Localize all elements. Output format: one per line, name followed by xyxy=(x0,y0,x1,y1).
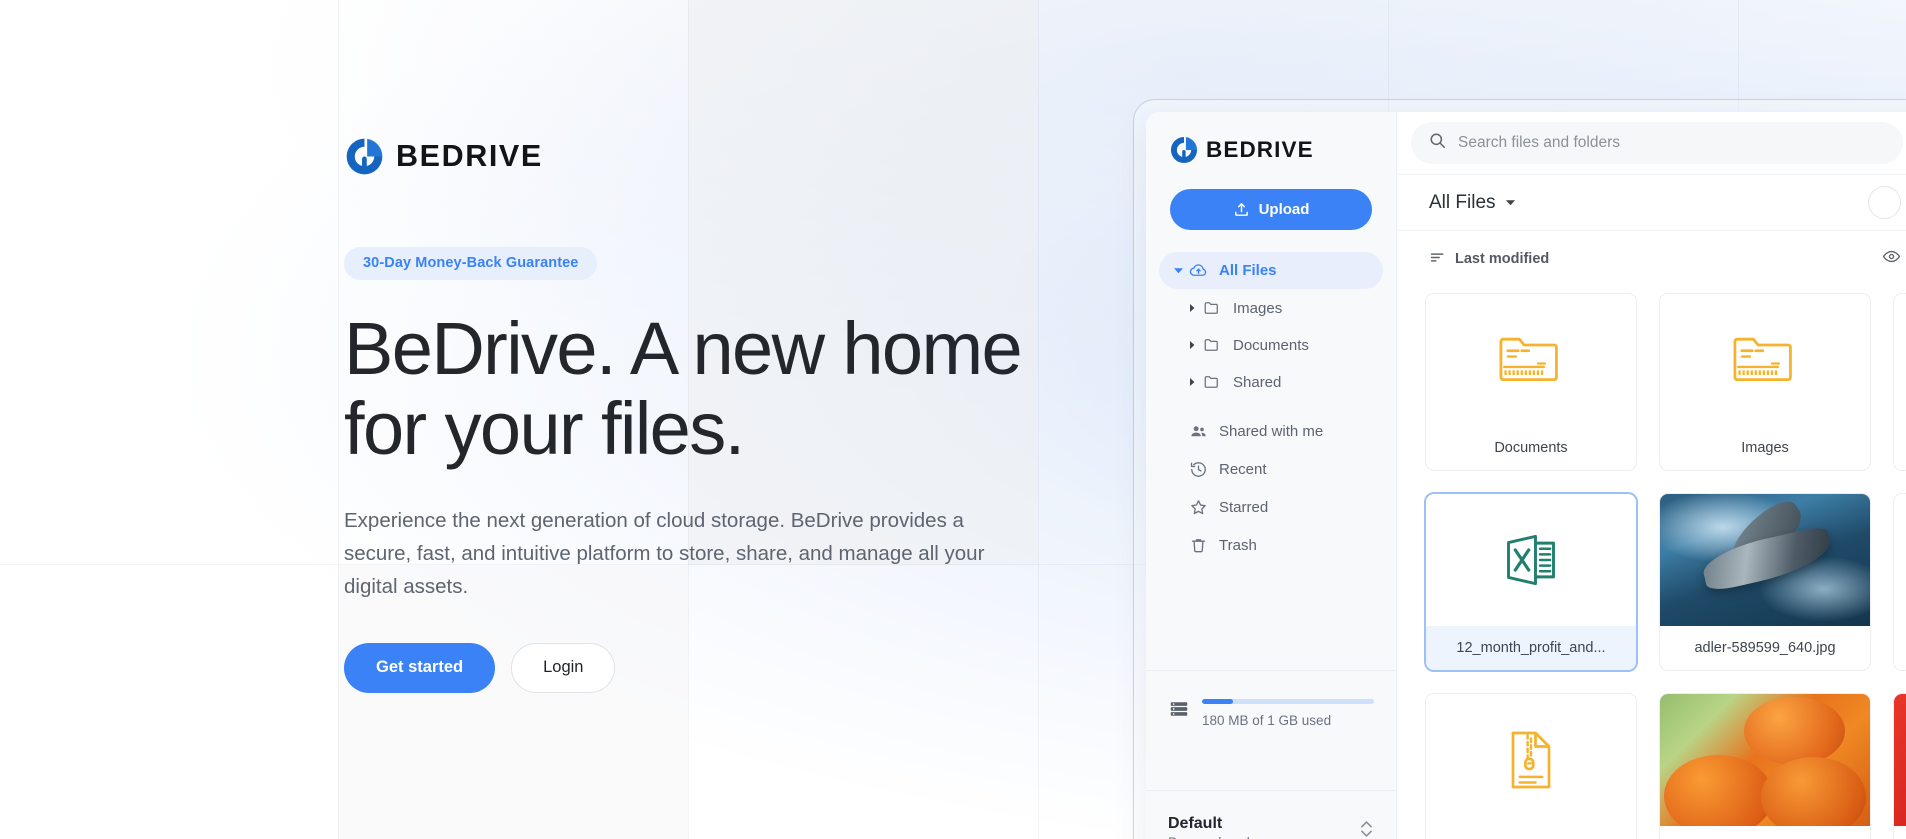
file-card-another[interactable]: anot xyxy=(1893,493,1906,671)
card-preview xyxy=(1426,494,1636,626)
headline-line-1: BeDrive. A new home xyxy=(344,307,1021,390)
eagle-photo xyxy=(1660,494,1870,626)
file-card-label xyxy=(1426,826,1636,839)
landing-page: BEDRIVE 30-Day Money-Back Guarantee BeDr… xyxy=(0,0,1906,839)
file-card-label: anot xyxy=(1894,626,1906,670)
sidebar-item-shared-with-me[interactable]: Shared with me xyxy=(1159,413,1383,450)
file-card-eagle-image[interactable]: adler-589599_640.jpg xyxy=(1659,493,1871,671)
top-bar xyxy=(1397,112,1906,174)
pumpkin-shape xyxy=(1664,755,1773,826)
upload-button-label: Upload xyxy=(1259,201,1310,218)
card-preview xyxy=(1894,494,1906,626)
hero-subtext: Experience the next generation of cloud … xyxy=(344,504,1006,604)
login-button[interactable]: Login xyxy=(511,643,615,693)
chevron-updown-icon[interactable] xyxy=(1359,817,1374,839)
file-card-red-image[interactable] xyxy=(1893,693,1906,839)
sidebar-nav: All Files Images xyxy=(1146,252,1396,565)
file-card-label xyxy=(1894,826,1906,839)
sidebar-item-images[interactable]: Images xyxy=(1173,290,1383,326)
sort-control[interactable]: Last modified xyxy=(1429,249,1549,270)
sort-label: Last modified xyxy=(1455,251,1549,267)
sidebar-item-label: Shared xyxy=(1233,375,1281,390)
sidebar-item-label: Recent xyxy=(1219,462,1267,477)
caret-right-icon[interactable] xyxy=(1184,378,1200,386)
sidebar-subnav: Images Documents xyxy=(1159,290,1383,400)
workspace-info: Default Personal workspace xyxy=(1168,813,1290,839)
sidebar-item-shared[interactable]: Shared xyxy=(1173,364,1383,400)
sidebar-item-recent[interactable]: Recent xyxy=(1159,451,1383,488)
people-icon xyxy=(1186,422,1210,441)
folder-icon xyxy=(1200,373,1224,391)
pumpkin-photo xyxy=(1660,694,1870,826)
caret-down-icon[interactable] xyxy=(1170,266,1186,275)
card-preview xyxy=(1660,694,1870,826)
app-window: BEDRIVE Upload xyxy=(1146,112,1906,839)
sidebar-item-documents[interactable]: Documents xyxy=(1173,327,1383,363)
cta-row: Get started Login xyxy=(344,643,1044,693)
sidebar-item-all-files[interactable]: All Files xyxy=(1159,252,1383,289)
brand-logo[interactable]: BEDRIVE xyxy=(344,136,1044,177)
search-input[interactable] xyxy=(1458,134,1886,152)
page-title: BeDrive. A new home for your files. xyxy=(344,309,1044,469)
view-toggle-icon[interactable] xyxy=(1882,247,1901,271)
caret-right-icon[interactable] xyxy=(1184,341,1200,349)
storage-body: 180 MB of 1 GB used xyxy=(1202,696,1374,728)
breadcrumb-bar: All Files xyxy=(1397,174,1906,231)
folder-yellow-icon xyxy=(1728,323,1802,397)
upload-button[interactable]: Upload xyxy=(1170,189,1372,230)
sidebar-item-starred[interactable]: Starred xyxy=(1159,489,1383,526)
file-card-spreadsheet[interactable]: 12_month_profit_and... xyxy=(1425,493,1637,671)
storage-progress-fill xyxy=(1202,699,1233,704)
file-card-label: adler-589599_640.jpg xyxy=(1660,626,1870,670)
caret-right-icon[interactable] xyxy=(1184,304,1200,312)
upload-icon xyxy=(1233,201,1250,218)
file-card-label xyxy=(1894,426,1906,470)
card-preview xyxy=(1660,294,1870,426)
sidebar-item-label: Trash xyxy=(1219,538,1257,553)
server-icon xyxy=(1168,698,1190,725)
trash-icon xyxy=(1186,536,1210,555)
headline-line-2: for your files. xyxy=(344,387,744,470)
bedrive-logo-icon xyxy=(1169,135,1199,165)
sort-bar: Last modified xyxy=(1397,231,1906,287)
nav-spacer xyxy=(1159,401,1383,413)
brand-wordmark: BEDRIVE xyxy=(396,141,543,172)
sidebar: BEDRIVE Upload xyxy=(1146,112,1397,839)
breadcrumb-label: All Files xyxy=(1429,192,1496,214)
breadcrumb[interactable]: All Files xyxy=(1429,192,1516,214)
folder-icon xyxy=(1200,299,1224,317)
get-started-button[interactable]: Get started xyxy=(344,643,495,693)
cloud-upload-icon xyxy=(1186,261,1210,280)
hero-section: BEDRIVE 30-Day Money-Back Guarantee BeDr… xyxy=(344,136,1044,693)
file-card-label: Images xyxy=(1660,426,1870,470)
sidebar-logo[interactable]: BEDRIVE xyxy=(1146,112,1396,165)
sidebar-item-label: All Files xyxy=(1219,263,1277,278)
workspace-name: Default xyxy=(1168,813,1290,835)
pumpkin-shape xyxy=(1744,697,1845,766)
sidebar-item-label: Documents xyxy=(1233,338,1309,353)
main-content: All Files Last modified xyxy=(1397,112,1906,839)
search-icon xyxy=(1428,131,1447,155)
bedrive-logo-icon xyxy=(344,136,385,177)
folder-icon xyxy=(1200,336,1224,354)
file-card-documents[interactable]: Documents xyxy=(1425,293,1637,471)
zip-file-icon xyxy=(1495,724,1567,796)
money-back-badge: 30-Day Money-Back Guarantee xyxy=(344,247,597,280)
file-grid: Documents Images xyxy=(1397,287,1906,839)
sidebar-item-label: Images xyxy=(1233,301,1282,316)
sidebar-item-trash[interactable]: Trash xyxy=(1159,527,1383,564)
storage-indicator: 180 MB of 1 GB used xyxy=(1146,670,1396,790)
pumpkin-shape xyxy=(1761,757,1866,826)
sidebar-item-label: Starred xyxy=(1219,500,1268,515)
card-preview xyxy=(1894,294,1906,426)
file-card-label xyxy=(1660,826,1870,839)
file-card-images[interactable]: Images xyxy=(1659,293,1871,471)
caret-down-icon[interactable] xyxy=(1505,192,1516,214)
history-icon xyxy=(1186,460,1210,479)
card-preview xyxy=(1426,694,1636,826)
file-card-archive[interactable] xyxy=(1425,693,1637,839)
card-preview xyxy=(1660,494,1870,626)
red-photo xyxy=(1894,694,1906,826)
file-card-folder-3[interactable] xyxy=(1893,293,1906,471)
file-card-label: Documents xyxy=(1426,426,1636,470)
file-card-label: 12_month_profit_and... xyxy=(1426,626,1636,670)
sidebar-item-label: Shared with me xyxy=(1219,424,1323,439)
star-icon xyxy=(1186,498,1210,517)
avatar[interactable] xyxy=(1868,186,1901,219)
file-card-pumpkin-image[interactable] xyxy=(1659,693,1871,839)
search-bar[interactable] xyxy=(1411,122,1903,164)
storage-progress-bar xyxy=(1202,699,1374,704)
storage-usage-text: 180 MB of 1 GB used xyxy=(1202,713,1374,728)
sort-icon xyxy=(1429,249,1446,270)
folder-yellow-icon xyxy=(1494,323,1568,397)
workspace-subtitle: Personal workspace xyxy=(1168,835,1290,839)
sidebar-brand-wordmark: BEDRIVE xyxy=(1206,139,1314,162)
card-preview xyxy=(1426,294,1636,426)
excel-icon xyxy=(1495,524,1567,596)
card-preview xyxy=(1894,694,1906,826)
workspace-switcher[interactable]: Default Personal workspace xyxy=(1146,790,1396,839)
